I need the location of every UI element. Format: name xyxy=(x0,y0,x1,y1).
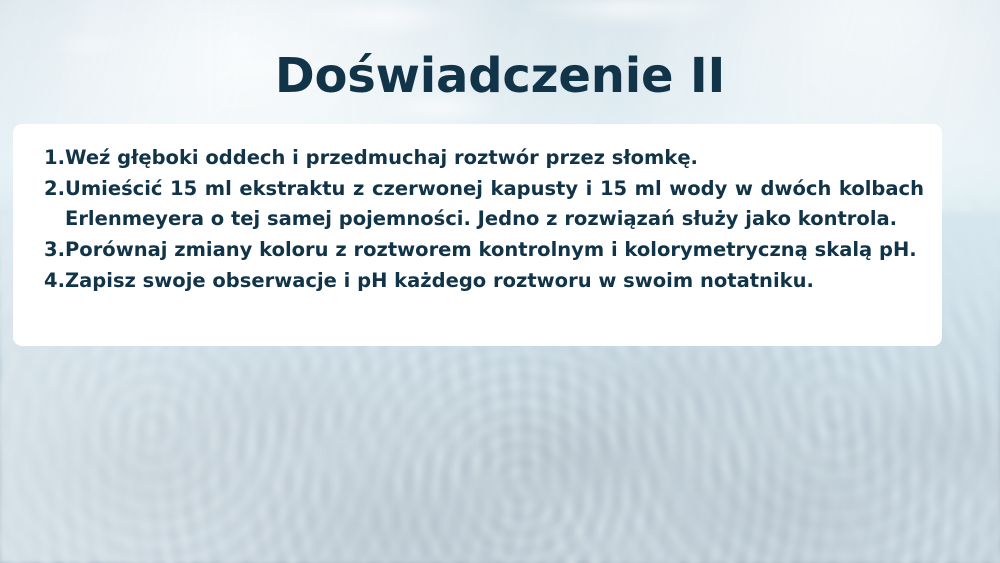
list-item-number: 4. xyxy=(44,266,65,297)
list-item-number: 2. xyxy=(44,174,65,205)
list-item: 1. Weź głęboki oddech i przedmuchaj rozt… xyxy=(44,143,924,174)
list-item-text: Umieścić 15 ml ekstraktu z czerwonej kap… xyxy=(65,177,924,231)
instructions-card: 1. Weź głęboki oddech i przedmuchaj rozt… xyxy=(13,124,942,346)
list-item-number: 1. xyxy=(44,143,65,174)
list-item-number: 3. xyxy=(44,235,65,266)
list-item: 2. Umieścić 15 ml ekstraktu z czerwonej … xyxy=(44,174,924,235)
list-item-text: Zapisz swoje obserwacje i pH każdego roz… xyxy=(65,269,814,292)
slide-title: Doświadczenie II xyxy=(0,50,1000,104)
presentation-slide: Doświadczenie II 1. Weź głęboki oddech i… xyxy=(0,0,1000,563)
list-item: 4. Zapisz swoje obserwacje i pH każdego … xyxy=(44,266,924,297)
instruction-steps-list: 1. Weź głęboki oddech i przedmuchaj rozt… xyxy=(44,143,924,297)
list-item-text: Weź głęboki oddech i przedmuchaj roztwór… xyxy=(65,146,698,169)
list-item-text: Porównaj zmiany koloru z roztworem kontr… xyxy=(65,238,917,261)
list-item: 3. Porównaj zmiany koloru z roztworem ko… xyxy=(44,235,924,266)
